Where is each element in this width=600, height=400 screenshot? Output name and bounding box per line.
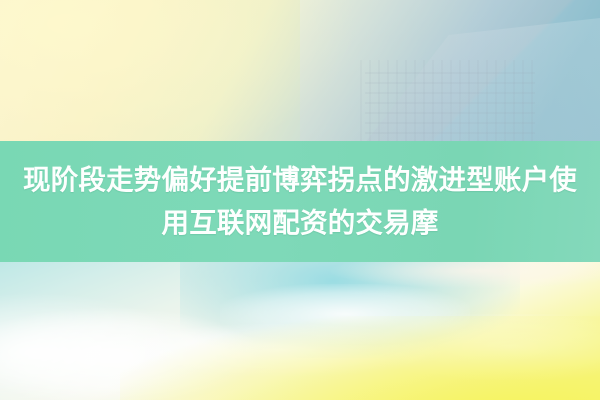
headline-band: 现阶段走势偏好提前博弈拐点的激进型账户使用互联网配资的交易摩 <box>0 141 600 262</box>
yellow-sun-glow <box>120 316 600 400</box>
banner-image: 现阶段走势偏好提前博弈拐点的激进型账户使用互联网配资的交易摩 <box>0 0 600 400</box>
lower-sky-scene <box>0 262 600 400</box>
headline-text: 现阶段走势偏好提前博弈拐点的激进型账户使用互联网配资的交易摩 <box>2 159 598 245</box>
upper-background-scene <box>0 0 600 141</box>
building-grid-watermark-horizontal <box>365 66 535 141</box>
